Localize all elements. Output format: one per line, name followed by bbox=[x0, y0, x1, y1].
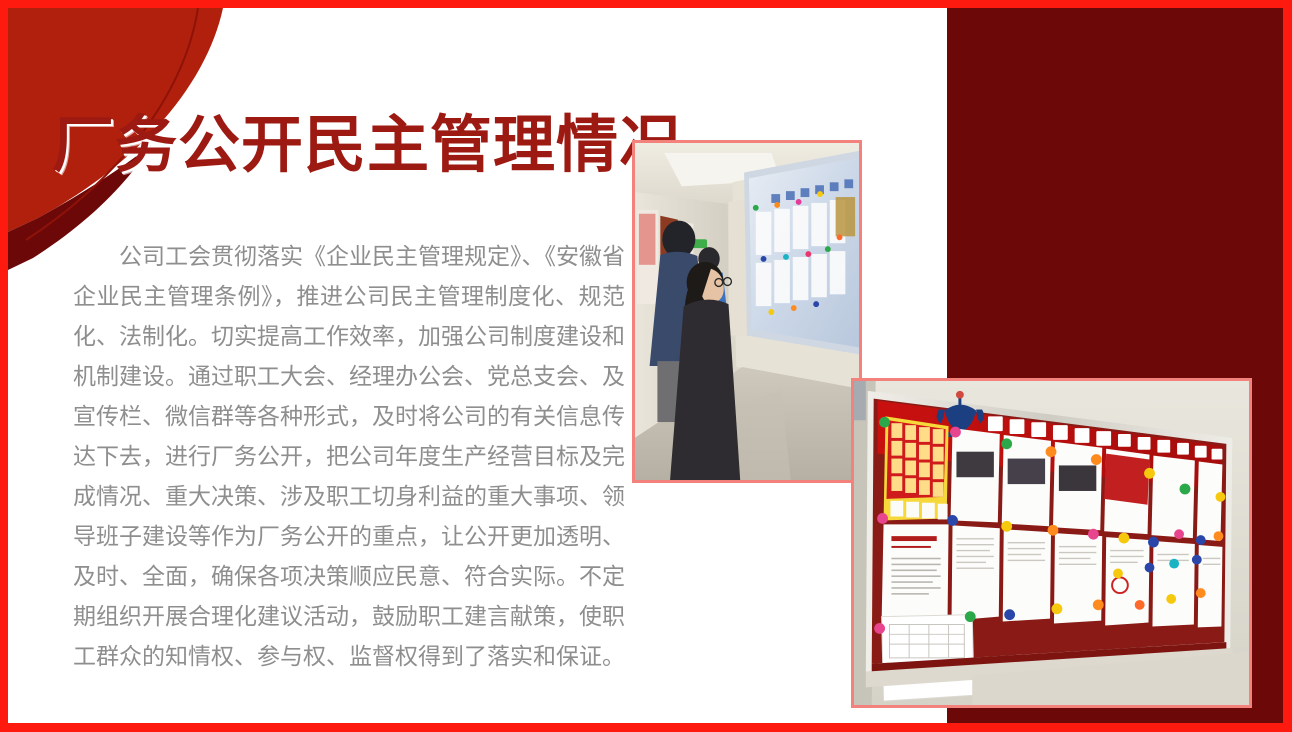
photo-hallway-artwork bbox=[635, 143, 859, 480]
photo-board bbox=[851, 378, 1252, 708]
slide-canvas: 厂务公开民主管理情况 公司工会贯彻落实《企业民主管理规定》、《安徽省企业民主管理… bbox=[8, 8, 1283, 723]
photo-hallway bbox=[632, 140, 862, 483]
body-paragraph: 公司工会贯彻落实《企业民主管理规定》、《安徽省企业民主管理条例》，推进公司民主管… bbox=[73, 236, 625, 676]
photo-board-artwork bbox=[854, 381, 1249, 705]
slide-root: 厂务公开民主管理情况 公司工会贯彻落实《企业民主管理规定》、《安徽省企业民主管理… bbox=[0, 0, 1292, 732]
page-title: 厂务公开民主管理情况 bbox=[52, 115, 682, 177]
